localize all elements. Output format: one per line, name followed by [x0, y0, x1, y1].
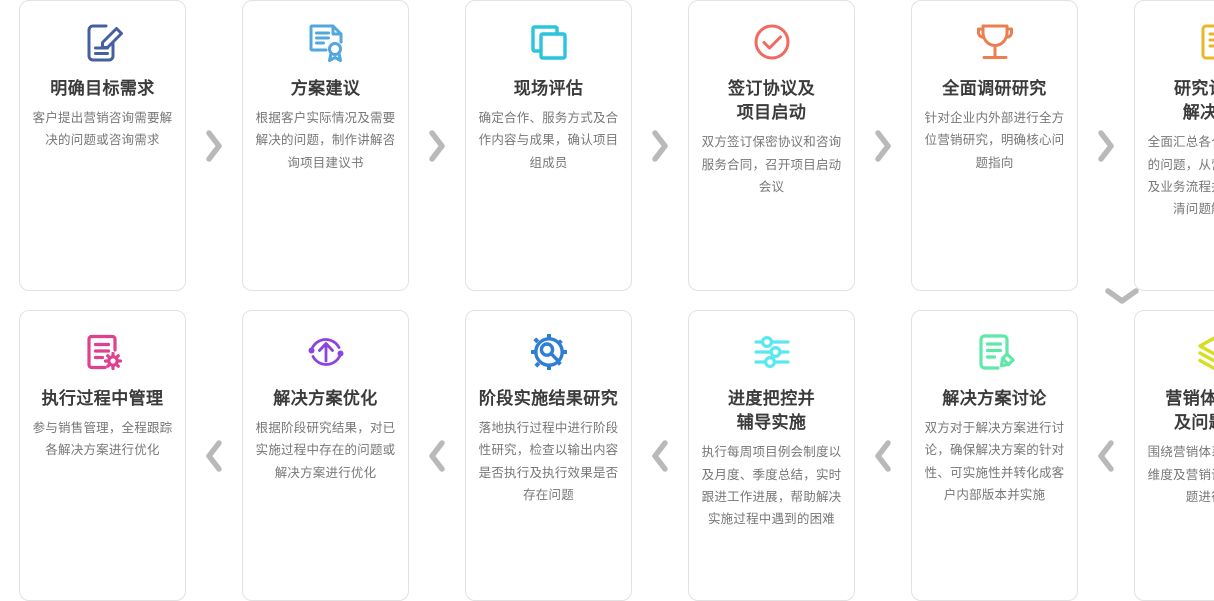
certificate-icon	[291, 11, 361, 73]
flow-card-step-6[interactable]: 研究诊断并 解决问题 全面汇总各个维度反馈出的问题，从营销咨询体系及业务流程并不…	[1134, 0, 1214, 291]
flow-connector	[205, 310, 223, 601]
chevron-right-icon	[204, 129, 224, 163]
flow-card-title: 进度把控并 辅导实施	[728, 387, 815, 435]
flow-card-desc: 落地执行过程中进行阶段性研究，检查以输出内容是否执行及执行效果是否存在问题	[478, 417, 619, 506]
flow-card-title: 签订协议及 项目启动	[728, 77, 815, 125]
chevron-left-icon	[873, 439, 893, 473]
flow-card-step-2[interactable]: 方案建议 根据客户实际情况及需要解决的问题，制作讲解咨询项目建议书	[242, 0, 409, 291]
upload-refresh-icon	[291, 321, 361, 383]
flow-card-title: 方案建议	[291, 77, 361, 101]
flow-card-title: 执行过程中管理	[42, 387, 164, 411]
flow-card-title: 解决方案讨论	[942, 387, 1046, 411]
process-flow-diagram: 明确目标需求 客户提出营销咨询需要解决的问题或咨询需求 方案建议 根据客户实际情…	[0, 0, 1214, 601]
flow-card-desc: 围绕营销体系建设的各个维度及营销诊断中发现问题进行解决	[1147, 441, 1214, 508]
flow-card-title: 全面调研研究	[942, 77, 1046, 101]
flow-connector	[1097, 0, 1115, 291]
flow-card-desc: 根据阶段研究结果，对已实施过程中存在的问题或解决方案进行优化	[255, 417, 396, 484]
document-settings-icon	[68, 321, 138, 383]
flow-card-desc: 根据客户实际情况及需要解决的问题，制作讲解咨询项目建议书	[255, 107, 396, 174]
flow-card-step-8[interactable]: 解决方案讨论 双方对于解决方案进行讨论，确保解决方案的针对性、可实施性并转化成客…	[911, 310, 1078, 601]
check-circle-icon	[737, 11, 807, 73]
flow-card-desc: 双方对于解决方案进行讨论，确保解决方案的针对性、可实施性并转化成客户内部版本并实…	[924, 417, 1065, 506]
flow-card-title: 营销体系建设 及问题解决	[1165, 387, 1214, 435]
trophy-icon	[960, 11, 1030, 73]
flow-connector	[428, 310, 446, 601]
flow-card-title: 明确目标需求	[50, 77, 154, 101]
flow-connector	[874, 310, 892, 601]
flow-card-step-5[interactable]: 全面调研研究 针对企业内外部进行全方位营销研究，明确核心问题指向	[911, 0, 1078, 291]
document-edit-icon	[68, 11, 138, 73]
gear-search-icon	[514, 321, 584, 383]
copy-layers-icon	[514, 11, 584, 73]
flow-card-title: 阶段实施结果研究	[479, 387, 618, 411]
chevron-left-icon	[204, 439, 224, 473]
flow-card-step-4[interactable]: 签订协议及 项目启动 双方签订保密协议和咨询服务合同，召开项目启动会议	[688, 0, 855, 291]
chevron-left-icon	[1096, 439, 1116, 473]
sliders-icon	[737, 321, 807, 383]
flow-card-desc: 针对企业内外部进行全方位营销研究，明确核心问题指向	[924, 107, 1065, 174]
flow-connector	[205, 0, 223, 291]
flow-card-step-3[interactable]: 现场评估 确定合作、服务方式及合作内容与成果，确认项目组成员	[465, 0, 632, 291]
flow-card-title: 解决方案优化	[273, 387, 377, 411]
document-pencil-icon	[960, 321, 1030, 383]
flow-card-desc: 双方签订保密协议和咨询服务合同，召开项目启动会议	[701, 131, 842, 198]
flow-card-title: 研究诊断并 解决问题	[1174, 77, 1214, 125]
chevron-right-icon	[427, 129, 447, 163]
chevron-left-icon	[427, 439, 447, 473]
chevron-down-icon	[1086, 284, 1158, 308]
flow-row-1: 明确目标需求 客户提出营销咨询需要解决的问题或咨询需求 方案建议 根据客户实际情…	[0, 0, 1214, 291]
flow-row-2: 执行过程中管理 参与销售管理，全程跟踪各解决方案进行优化 解决方案优化	[0, 310, 1214, 601]
flow-connector	[874, 0, 892, 291]
flow-connector	[428, 0, 446, 291]
flow-card-step-9[interactable]: 进度把控并 辅导实施 执行每周项目例会制度以及月度、季度总结，实时跟进工作进展，…	[688, 310, 855, 601]
flow-card-step-7[interactable]: 营销体系建设 及问题解决 围绕营销体系建设的各个维度及营销诊断中发现问题进行解决	[1134, 310, 1214, 601]
chevron-right-icon	[650, 129, 670, 163]
flow-card-desc: 执行每周项目例会制度以及月度、季度总结，实时跟进工作进展，帮助解决实施过程中遇到…	[701, 441, 842, 530]
chevron-left-icon	[650, 439, 670, 473]
flow-card-desc: 确定合作、服务方式及合作内容与成果，确认项目组成员	[478, 107, 619, 174]
flow-card-step-10[interactable]: 阶段实施结果研究 落地执行过程中进行阶段性研究，检查以输出内容是否执行及执行效果…	[465, 310, 632, 601]
stacked-layers-icon	[1183, 321, 1214, 383]
flow-card-step-12[interactable]: 执行过程中管理 参与销售管理，全程跟踪各解决方案进行优化	[19, 310, 186, 601]
flow-card-desc: 全面汇总各个维度反馈出的问题，从营销咨询体系及业务流程并不同维度理清问题解决思路	[1147, 131, 1214, 220]
flow-connector	[651, 0, 669, 291]
flow-card-title: 现场评估	[514, 77, 584, 101]
document-check-icon	[1183, 11, 1214, 73]
chevron-right-icon	[1096, 129, 1116, 163]
flow-card-step-11[interactable]: 解决方案优化 根据阶段研究结果，对已实施过程中存在的问题或解决方案进行优化	[242, 310, 409, 601]
chevron-right-icon	[873, 129, 893, 163]
flow-card-desc: 客户提出营销咨询需要解决的问题或咨询需求	[32, 107, 173, 152]
flow-card-desc: 参与销售管理，全程跟踪各解决方案进行优化	[32, 417, 173, 462]
flow-card-step-1[interactable]: 明确目标需求 客户提出营销咨询需要解决的问题或咨询需求	[19, 0, 186, 291]
flow-connector	[1097, 310, 1115, 601]
flow-connector	[651, 310, 669, 601]
